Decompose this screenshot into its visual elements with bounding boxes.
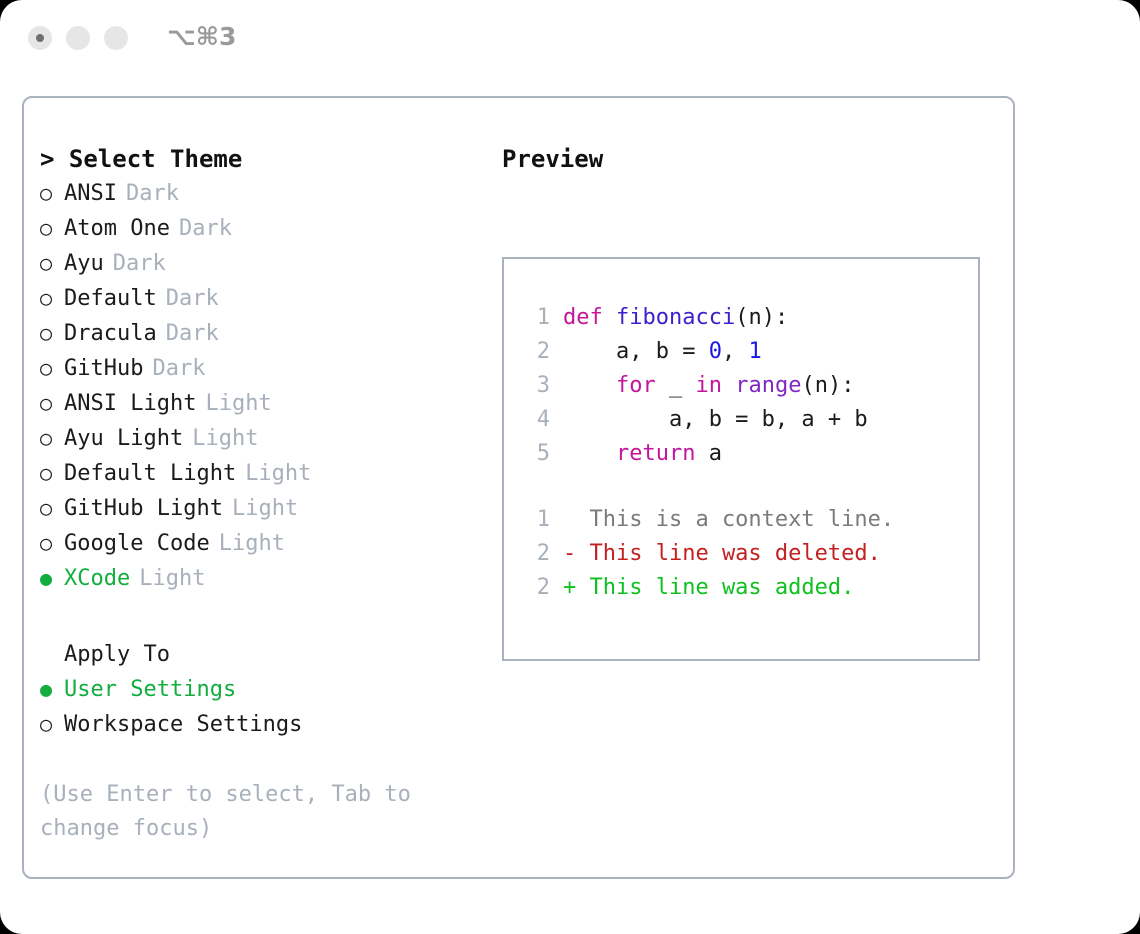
code-token: return bbox=[616, 441, 695, 466]
line-number: 4 bbox=[516, 403, 550, 437]
theme-option-label: Dracula bbox=[64, 317, 157, 351]
theme-option-label: Ayu Light bbox=[64, 422, 183, 456]
theme-option-github[interactable]: ○GitHubDark bbox=[40, 351, 490, 386]
radio-unselected-icon: ○ bbox=[40, 707, 64, 741]
theme-option-variant: Dark bbox=[166, 282, 219, 316]
theme-option-label: Google Code bbox=[64, 527, 210, 561]
code-line-text: def fibonacci(n): bbox=[563, 301, 788, 335]
code-token: , bbox=[722, 339, 749, 364]
code-token: _ bbox=[656, 373, 696, 398]
theme-option-default[interactable]: ○DefaultDark bbox=[40, 281, 490, 316]
diff-line-text: - This line was deleted. bbox=[563, 537, 881, 571]
code-line: 3 for _ in range(n): bbox=[516, 369, 968, 403]
theme-option-variant: Dark bbox=[126, 177, 179, 211]
code-line: 1def fibonacci(n): bbox=[516, 301, 968, 335]
code-token: range bbox=[735, 373, 801, 398]
code-token: (n): bbox=[801, 373, 854, 398]
theme-option-github-light[interactable]: ○GitHub LightLight bbox=[40, 491, 490, 526]
theme-option-dracula[interactable]: ○DraculaDark bbox=[40, 316, 490, 351]
theme-option-label: GitHub Light bbox=[64, 492, 223, 526]
line-number: 1 bbox=[516, 503, 550, 537]
theme-option-variant: Light bbox=[139, 562, 205, 596]
radio-unselected-icon: ○ bbox=[40, 211, 64, 245]
line-number: 5 bbox=[516, 437, 550, 471]
theme-option-xcode[interactable]: ●XCodeLight bbox=[40, 561, 490, 596]
keyboard-shortcut-label: ⌥⌘3 bbox=[167, 22, 236, 51]
theme-option-variant: Dark bbox=[113, 247, 166, 281]
preview-box: 1def fibonacci(n):2 a, b = 0, 13 for _ i… bbox=[502, 257, 980, 661]
code-token: for bbox=[616, 373, 656, 398]
theme-option-variant: Light bbox=[192, 422, 258, 456]
code-line-text: a, b = 0, 1 bbox=[563, 335, 762, 369]
window-dot-1-icon[interactable] bbox=[28, 26, 52, 50]
code-token bbox=[563, 441, 616, 466]
code-line: 4 a, b = b, a + b bbox=[516, 403, 968, 437]
line-number: 2 bbox=[516, 537, 550, 571]
window-dot-3-icon[interactable] bbox=[104, 26, 128, 50]
theme-option-label: XCode bbox=[64, 562, 130, 596]
code-line: 5 return a bbox=[516, 437, 968, 471]
diff-line-add: 2+ This line was added. bbox=[516, 571, 968, 605]
code-token: 0 bbox=[709, 339, 722, 364]
theme-option-default-light[interactable]: ○Default LightLight bbox=[40, 456, 490, 491]
theme-option-variant: Dark bbox=[166, 317, 219, 351]
code-token bbox=[563, 373, 616, 398]
code-token: a bbox=[695, 441, 722, 466]
select-theme-heading: > Select Theme bbox=[40, 142, 490, 176]
radio-selected-icon: ● bbox=[40, 672, 64, 706]
diff-line-del: 2- This line was deleted. bbox=[516, 537, 968, 571]
column-spacer bbox=[40, 596, 490, 638]
diff-line-text: + This line was added. bbox=[563, 571, 854, 605]
theme-option-label: Default Light bbox=[64, 457, 236, 491]
theme-option-label: Ayu bbox=[64, 247, 104, 281]
radio-unselected-icon: ○ bbox=[40, 176, 64, 210]
code-token: (n): bbox=[735, 305, 788, 330]
theme-option-label: ANSI Light bbox=[64, 387, 196, 421]
radio-unselected-icon: ○ bbox=[40, 491, 64, 525]
radio-unselected-icon: ○ bbox=[40, 421, 64, 455]
theme-list: ○ANSIDark○Atom OneDark○AyuDark○DefaultDa… bbox=[40, 176, 490, 596]
theme-option-ayu[interactable]: ○AyuDark bbox=[40, 246, 490, 281]
theme-selector-column: > Select Theme ○ANSIDark○Atom OneDark○Ay… bbox=[40, 142, 490, 846]
theme-option-variant: Light bbox=[219, 527, 285, 561]
theme-option-label: Default bbox=[64, 282, 157, 316]
theme-option-ansi-light[interactable]: ○ANSI LightLight bbox=[40, 386, 490, 421]
radio-selected-icon: ● bbox=[40, 561, 64, 595]
theme-option-variant: Light bbox=[205, 387, 271, 421]
window-controls bbox=[28, 26, 128, 50]
code-line-text: a, b = b, a + b bbox=[563, 403, 868, 437]
apply-to-option-label: Workspace Settings bbox=[64, 708, 302, 742]
diff-line-text: This is a context line. bbox=[563, 503, 894, 537]
preview-column: Preview bbox=[502, 142, 1002, 176]
apply-to-option-user-settings[interactable]: ●User Settings bbox=[40, 672, 490, 707]
theme-option-label: ANSI bbox=[64, 177, 117, 211]
code-token: a, b = bbox=[563, 339, 709, 364]
theme-option-ayu-light[interactable]: ○Ayu LightLight bbox=[40, 421, 490, 456]
theme-option-label: GitHub bbox=[64, 352, 143, 386]
code-line-text: return a bbox=[563, 437, 722, 471]
line-number: 1 bbox=[516, 301, 550, 335]
title-bar: ⌥⌘3 bbox=[0, 0, 1140, 78]
keyboard-hint-text: (Use Enter to select, Tab to change focu… bbox=[40, 778, 450, 846]
radio-unselected-icon: ○ bbox=[40, 386, 64, 420]
radio-unselected-icon: ○ bbox=[40, 281, 64, 315]
diff-line-ctx: 1 This is a context line. bbox=[516, 503, 968, 537]
apply-to-list: ●User Settings○Workspace Settings bbox=[40, 672, 490, 742]
app-window: ⌥⌘3 > Select Theme ○ANSIDark○Atom OneDar… bbox=[0, 0, 1140, 934]
apply-to-option-label: User Settings bbox=[64, 673, 236, 707]
preview-heading: Preview bbox=[502, 142, 1002, 176]
code-token bbox=[722, 373, 735, 398]
line-number: 2 bbox=[516, 335, 550, 369]
apply-to-heading: Apply To bbox=[40, 638, 490, 672]
theme-option-variant: Dark bbox=[179, 212, 232, 246]
code-token: def bbox=[563, 305, 616, 330]
theme-option-label: Atom One bbox=[64, 212, 170, 246]
radio-unselected-icon: ○ bbox=[40, 246, 64, 280]
code-token: a, b = b, a + b bbox=[563, 407, 868, 432]
radio-unselected-icon: ○ bbox=[40, 456, 64, 490]
radio-unselected-icon: ○ bbox=[40, 316, 64, 350]
theme-option-variant: Light bbox=[245, 457, 311, 491]
code-token: fibonacci bbox=[616, 305, 735, 330]
theme-option-google-code[interactable]: ○Google CodeLight bbox=[40, 526, 490, 561]
theme-option-variant: Light bbox=[232, 492, 298, 526]
window-dot-2-icon[interactable] bbox=[66, 26, 90, 50]
line-number: 3 bbox=[516, 369, 550, 403]
code-sample: 1def fibonacci(n):2 a, b = 0, 13 for _ i… bbox=[516, 301, 968, 605]
code-token: 1 bbox=[748, 339, 761, 364]
apply-to-option-workspace-settings[interactable]: ○Workspace Settings bbox=[40, 707, 490, 742]
radio-unselected-icon: ○ bbox=[40, 351, 64, 385]
code-diff-separator bbox=[516, 471, 968, 503]
theme-option-variant: Dark bbox=[152, 352, 205, 386]
code-line: 2 a, b = 0, 1 bbox=[516, 335, 968, 369]
theme-option-ansi[interactable]: ○ANSIDark bbox=[40, 176, 490, 211]
code-token: in bbox=[695, 373, 722, 398]
radio-unselected-icon: ○ bbox=[40, 526, 64, 560]
dialog-panel: > Select Theme ○ANSIDark○Atom OneDark○Ay… bbox=[22, 96, 1015, 879]
theme-option-atom-one[interactable]: ○Atom OneDark bbox=[40, 211, 490, 246]
code-line-text: for _ in range(n): bbox=[563, 369, 854, 403]
line-number: 2 bbox=[516, 571, 550, 605]
